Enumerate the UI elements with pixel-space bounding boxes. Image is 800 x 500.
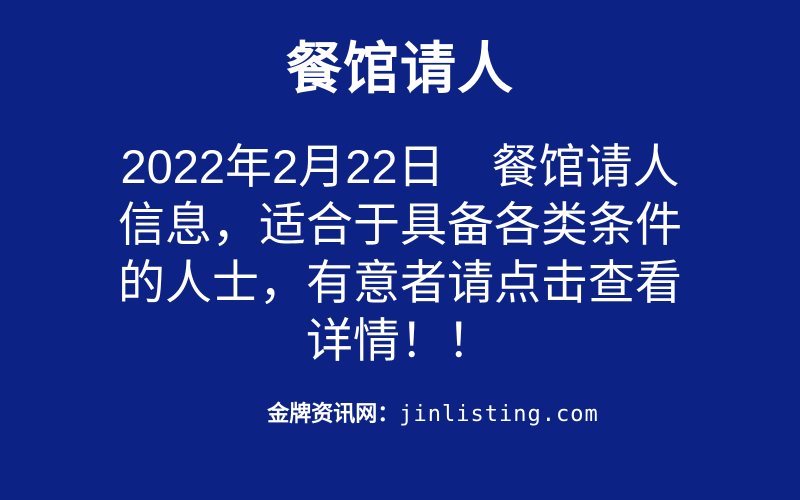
body-line-3: 的人士，有意者请点击查看 [110, 254, 690, 312]
body-line-2: 信息，适合于具备各类条件 [110, 196, 690, 254]
footer-site-label: 金牌资讯网： [267, 401, 399, 426]
page-title: 餐馆请人 [0, 36, 800, 102]
announcement-body: 2022年2月22日 餐馆请人 信息，适合于具备各类条件 的人士，有意者请点击查… [110, 138, 690, 370]
footer-attribution: 金牌资讯网：jinlisting.com [0, 396, 800, 428]
body-line-1: 2022年2月22日 餐馆请人 [110, 138, 690, 196]
body-line-4: 详情！！ [110, 312, 690, 370]
poster-canvas: 餐馆请人 2022年2月22日 餐馆请人 信息，适合于具备各类条件 的人士，有意… [0, 0, 800, 500]
footer-site-url: jinlisting.com [399, 402, 598, 427]
